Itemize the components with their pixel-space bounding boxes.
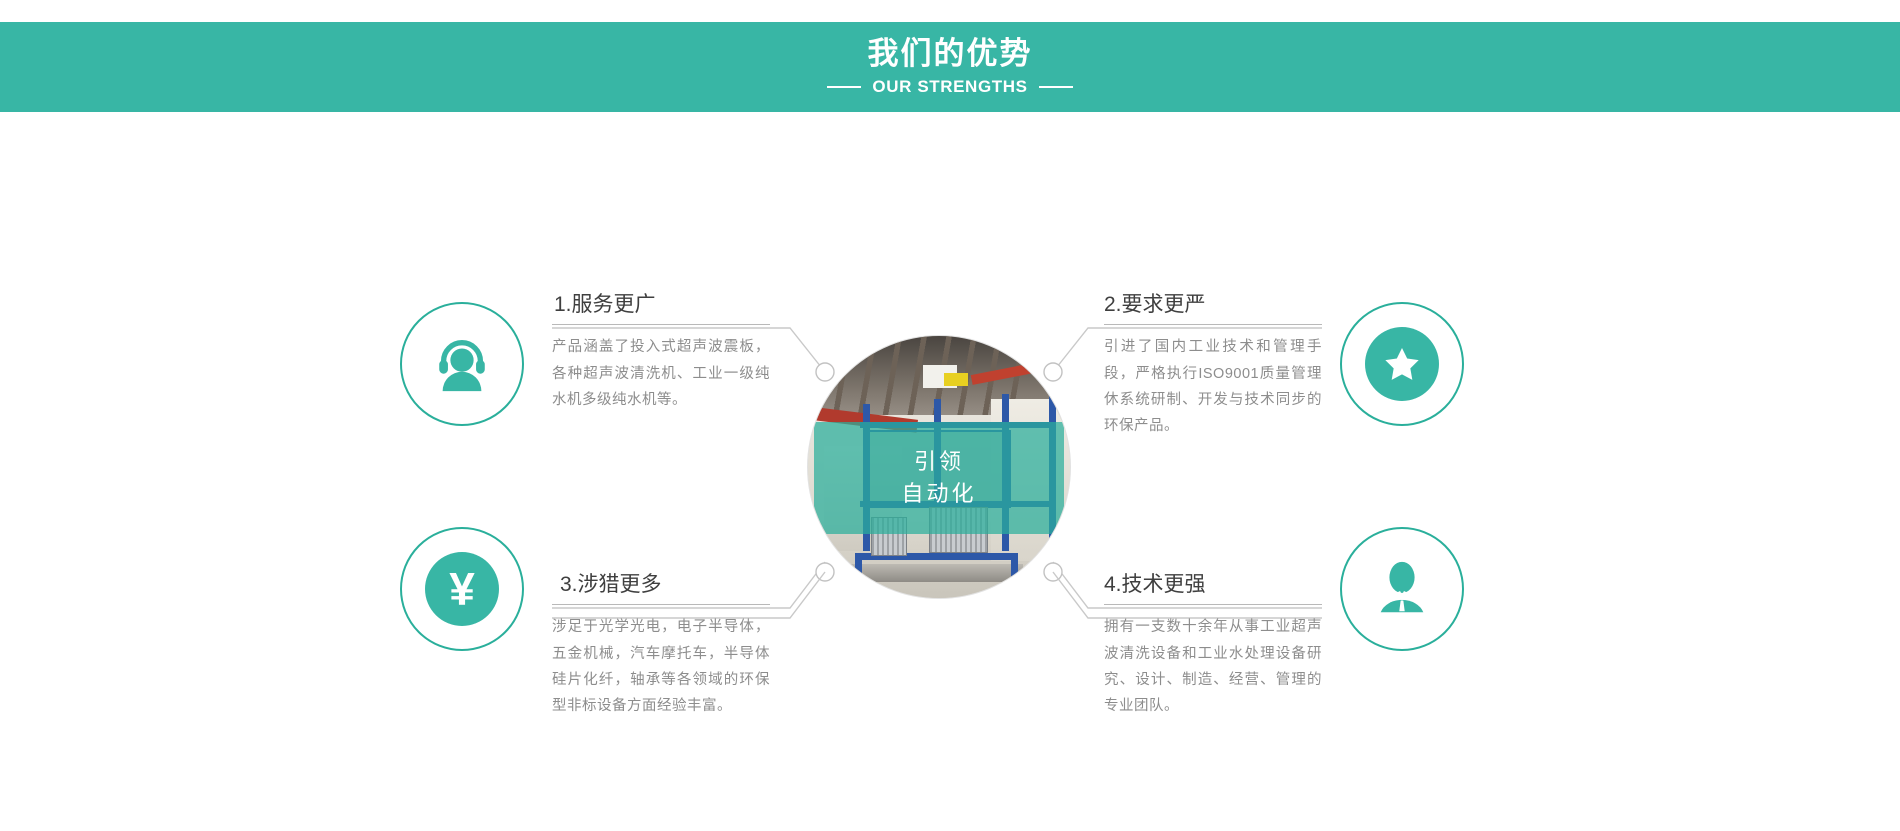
strengths-diagram: 引领 自动化 ¥ — [0, 112, 1900, 831]
section-header-banner: 我们的优势 OUR STRENGTHS — [0, 22, 1900, 112]
feature-title: 4.技术更强 — [1104, 572, 1322, 604]
feature-block-4: 4.技术更强 拥有一支数十余年从事工业超声波清洗设备和工业水处理设备研究、设计、… — [1104, 572, 1322, 720]
feature-divider — [552, 324, 770, 325]
yen-glyph: ¥ — [449, 566, 475, 612]
center-photo: 引领 自动化 — [808, 336, 1070, 598]
subtitle-row: OUR STRENGTHS — [827, 77, 1072, 97]
headset-support-icon — [425, 327, 499, 401]
feature-divider — [1104, 324, 1322, 325]
icon-ring-service[interactable] — [400, 302, 524, 426]
star-icon — [1365, 327, 1439, 401]
feature-title: 2.要求更严 — [1104, 292, 1322, 324]
rule-right-decoration — [1039, 86, 1073, 88]
feature-block-3: 3.涉猎更多 涉足于光学光电，电子半导体，五金机械，汽车摩托车，半导体硅片化纤，… — [552, 572, 770, 720]
feature-block-2: 2.要求更严 引进了国内工业技术和管理手段，严格执行ISO9001质量管理休系统… — [1104, 292, 1322, 440]
overlay-line-1: 引领 — [914, 446, 964, 478]
feature-block-1: 1.服务更广 产品涵盖了投入式超声波震板，各种超声波清洗机、工业一级纯水机多级纯… — [552, 292, 770, 413]
feature-title: 3.涉猎更多 — [552, 572, 770, 604]
icon-ring-quality[interactable] — [1340, 302, 1464, 426]
photo-overlay-caption: 引领 自动化 — [814, 422, 1064, 534]
feature-body: 引进了国内工业技术和管理手段，严格执行ISO9001质量管理休系统研制、开发与技… — [1104, 334, 1322, 440]
overlay-line-2: 自动化 — [901, 478, 976, 510]
yen-currency-icon: ¥ — [425, 552, 499, 626]
feature-divider — [1104, 604, 1322, 605]
page-subtitle: OUR STRENGTHS — [872, 77, 1027, 97]
icon-ring-scope[interactable]: ¥ — [400, 527, 524, 651]
feature-body: 涉足于光学光电，电子半导体，五金机械，汽车摩托车，半导体硅片化纤，轴承等各领域的… — [552, 614, 770, 720]
feature-title: 1.服务更广 — [552, 292, 770, 324]
businessman-icon — [1365, 552, 1439, 626]
page-title: 我们的优势 — [868, 37, 1033, 71]
feature-divider — [552, 604, 770, 605]
icon-ring-team[interactable] — [1340, 527, 1464, 651]
feature-body: 拥有一支数十余年从事工业超声波清洗设备和工业水处理设备研究、设计、制造、经营、管… — [1104, 614, 1322, 720]
feature-body: 产品涵盖了投入式超声波震板，各种超声波清洗机、工业一级纯水机多级纯水机等。 — [552, 334, 770, 413]
rule-left-decoration — [827, 86, 861, 88]
